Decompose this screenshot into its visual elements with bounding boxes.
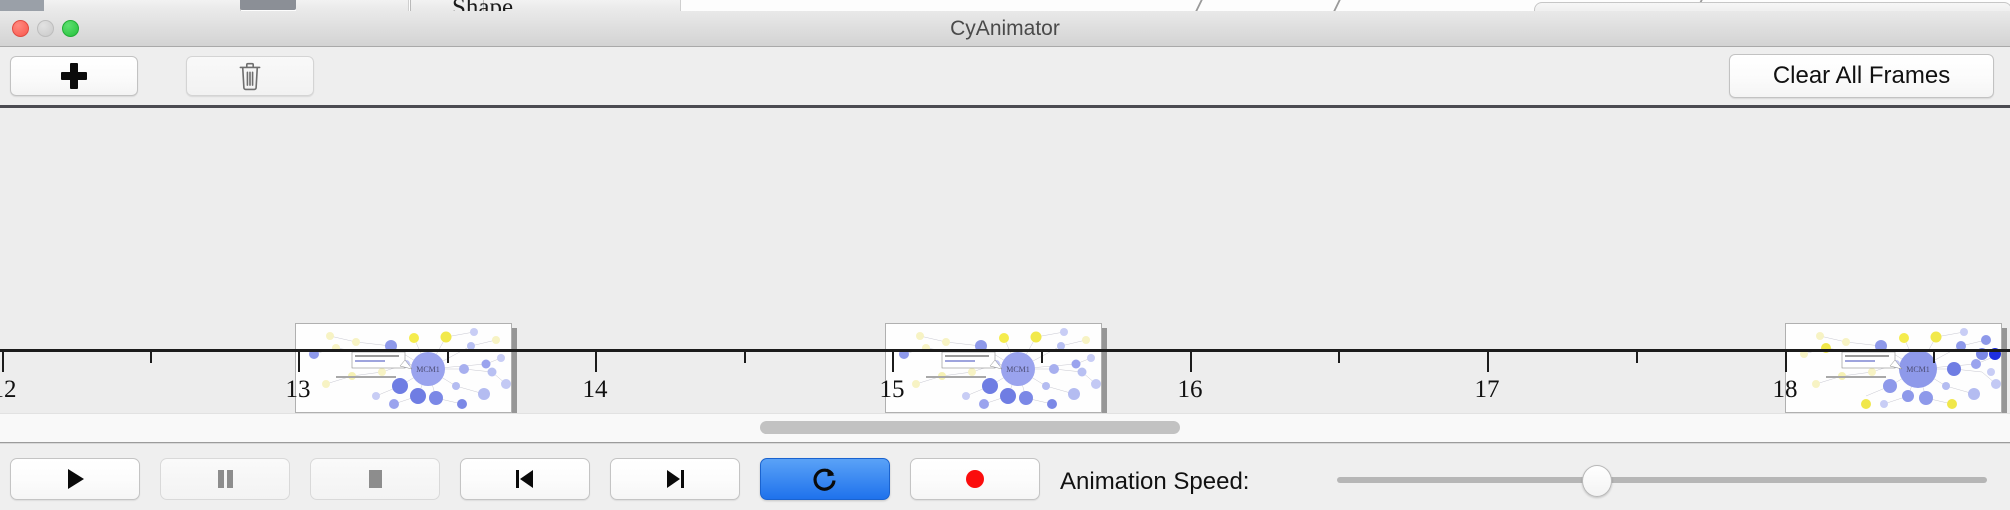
plus-icon xyxy=(61,63,87,89)
axis-tick-18 xyxy=(1785,352,1787,372)
axis-label: 16 xyxy=(1178,376,1203,404)
record-icon xyxy=(961,465,989,493)
play-button[interactable] xyxy=(10,458,140,500)
axis-tick-minor xyxy=(1338,352,1340,363)
horizontal-scrollbar[interactable] xyxy=(0,413,2010,443)
axis-label: 15 xyxy=(880,376,905,404)
axis-tick-17 xyxy=(1487,352,1489,372)
play-icon xyxy=(61,465,89,493)
axis-tick-15 xyxy=(892,352,894,372)
axis-label: 17 xyxy=(1475,376,1500,404)
pause-button[interactable] xyxy=(160,458,290,500)
axis-tick-minor xyxy=(447,352,449,363)
background-tick-1 xyxy=(1195,0,1202,11)
stop-button[interactable] xyxy=(310,458,440,500)
svg-text:MCM1: MCM1 xyxy=(416,365,440,374)
background-window-chip-2 xyxy=(240,0,296,10)
axis-tick-12 xyxy=(2,352,4,372)
axis-label: 18 xyxy=(1773,376,1798,404)
timeline-panel[interactable]: MCM1 xyxy=(0,108,2010,413)
skip-back-icon xyxy=(511,465,539,493)
clear-all-frames-button[interactable]: Clear All Frames xyxy=(1729,54,1994,98)
axis-tick-13 xyxy=(298,352,300,372)
frame-thumbnail[interactable]: MCM1 xyxy=(295,323,512,413)
network-thumbnail-3: MCM1 xyxy=(1786,324,2001,412)
slider-thumb[interactable] xyxy=(1582,465,1612,497)
window-title: CyAnimator xyxy=(0,11,2010,46)
network-thumbnail-2: MCM1 xyxy=(886,324,1101,412)
axis-tick-14 xyxy=(595,352,597,372)
playback-bar: Animation Speed: xyxy=(0,443,2010,510)
animation-speed-label: Animation Speed: xyxy=(1060,468,1249,496)
delete-frame-button[interactable] xyxy=(186,56,314,96)
loop-icon xyxy=(810,464,840,494)
add-frame-button[interactable] xyxy=(10,56,138,96)
screen: Shape CyAnimator xyxy=(0,0,2010,510)
axis-tick-16 xyxy=(1190,352,1192,372)
axis-label: 14 xyxy=(583,376,608,404)
svg-text:MCM1: MCM1 xyxy=(1906,365,1930,374)
animation-speed-slider[interactable] xyxy=(1337,477,1987,483)
cyanimator-window: CyAnimator Clear All Frames xyxy=(0,11,2010,510)
svg-text:MCM1: MCM1 xyxy=(1006,365,1030,374)
frame-thumbnail[interactable]: MCM1 xyxy=(885,323,1102,413)
step-backward-button[interactable] xyxy=(460,458,590,500)
clear-all-frames-label: Clear All Frames xyxy=(1773,62,1950,90)
trash-icon xyxy=(237,61,263,91)
timeline-axis xyxy=(0,349,2010,352)
step-forward-button[interactable] xyxy=(610,458,740,500)
record-button[interactable] xyxy=(910,458,1040,500)
scrollbar-thumb[interactable] xyxy=(760,421,1180,434)
toolbar: Clear All Frames xyxy=(0,47,2010,108)
network-thumbnail-1: MCM1 xyxy=(296,324,511,412)
loop-button[interactable] xyxy=(760,458,890,500)
axis-tick-minor xyxy=(150,352,152,363)
axis-label: 13 xyxy=(286,376,311,404)
title-bar: CyAnimator xyxy=(0,11,2010,47)
axis-tick-minor xyxy=(1933,352,1935,363)
background-tick-2 xyxy=(1333,0,1340,11)
pause-icon xyxy=(211,465,239,493)
stop-icon xyxy=(361,465,389,493)
axis-label: 12 xyxy=(0,376,17,404)
axis-tick-minor xyxy=(744,352,746,363)
skip-forward-icon xyxy=(661,465,689,493)
frame-thumbnail[interactable]: MCM1 xyxy=(1785,323,2002,413)
axis-tick-minor xyxy=(1041,352,1043,363)
axis-tick-minor xyxy=(1636,352,1638,363)
